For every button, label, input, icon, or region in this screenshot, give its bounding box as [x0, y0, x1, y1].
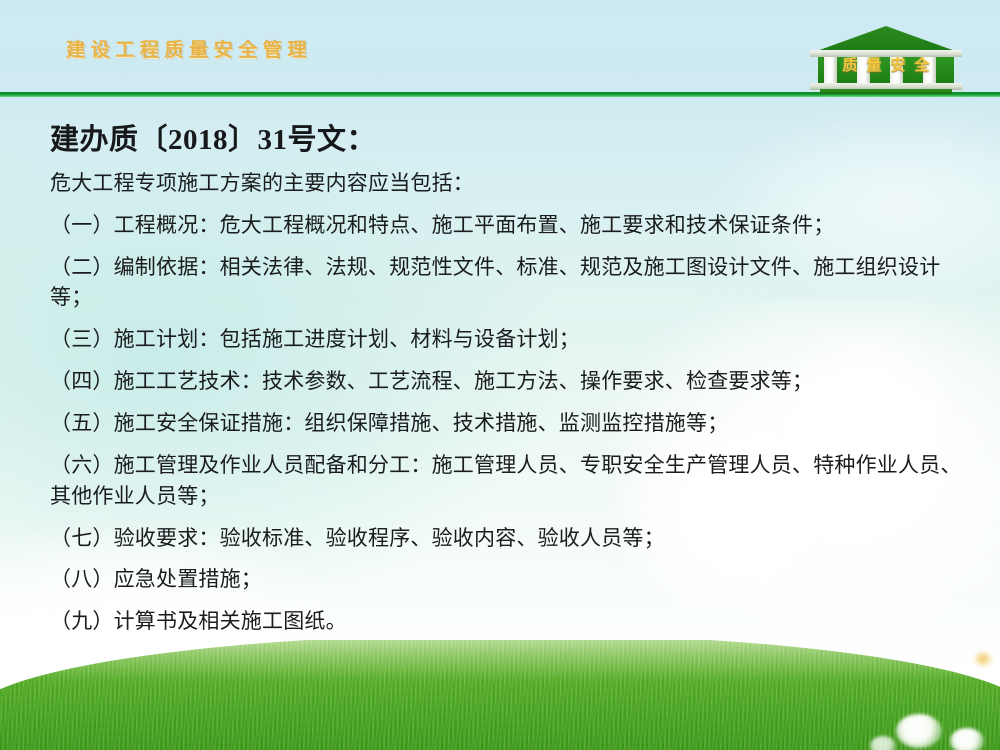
white-flower-2: [950, 728, 984, 750]
grass-field: [0, 640, 1000, 750]
clause-item-7: （七）验收要求：验收标准、验收程序、验收内容、验收人员等；: [50, 523, 962, 554]
clause-item-2: （二）编制依据：相关法律、法规、规范性文件、标准、规范及施工图设计文件、施工组织…: [50, 252, 962, 314]
clause-item-1: （一）工程概况：危大工程概况和特点、施工平面布置、施工要求和技术保证条件；: [50, 210, 962, 241]
white-flower-1: [896, 714, 942, 748]
white-flower-3: [870, 736, 896, 750]
slide-header: 建设工程质量安全管理 质量安全: [0, 0, 1000, 96]
clause-item-4: （四）施工工艺技术：技术参数、工艺流程、施工方法、操作要求、检查要求等；: [50, 366, 962, 397]
sparkle-decoration: [974, 652, 992, 666]
grass-horizon-haze: [0, 640, 1000, 680]
clause-item-3: （三）施工计划：包括施工进度计划、材料与设备计划；: [50, 324, 962, 355]
lead-paragraph: 危大工程专项施工方案的主要内容应当包括：: [50, 168, 962, 198]
clause-item-6: （六）施工管理及作业人员配备和分工：施工管理人员、专职安全生产管理人员、特种作业…: [50, 450, 962, 512]
header-title: 建设工程质量安全管理: [66, 41, 312, 60]
clause-item-5: （五）施工安全保证措施：组织保障措施、技术措施、监测监控措施等；: [50, 408, 962, 439]
quality-safety-temple-logo: 质量安全: [806, 26, 966, 94]
document-title: 建办质〔2018〕31号文：: [50, 122, 962, 158]
slide-root: 建设工程质量安全管理 质量安全 建办质〔2018〕31号文： 危大工程专项施工方…: [0, 0, 1000, 750]
slide-body: 建办质〔2018〕31号文： 危大工程专项施工方案的主要内容应当包括： （一）工…: [0, 96, 1000, 696]
clause-item-9: （九）计算书及相关施工图纸。: [50, 606, 962, 637]
logo-text: 质量安全: [806, 26, 966, 94]
grass-footer: [0, 640, 1000, 750]
clause-item-8: （八）应急处置措施；: [50, 564, 962, 595]
